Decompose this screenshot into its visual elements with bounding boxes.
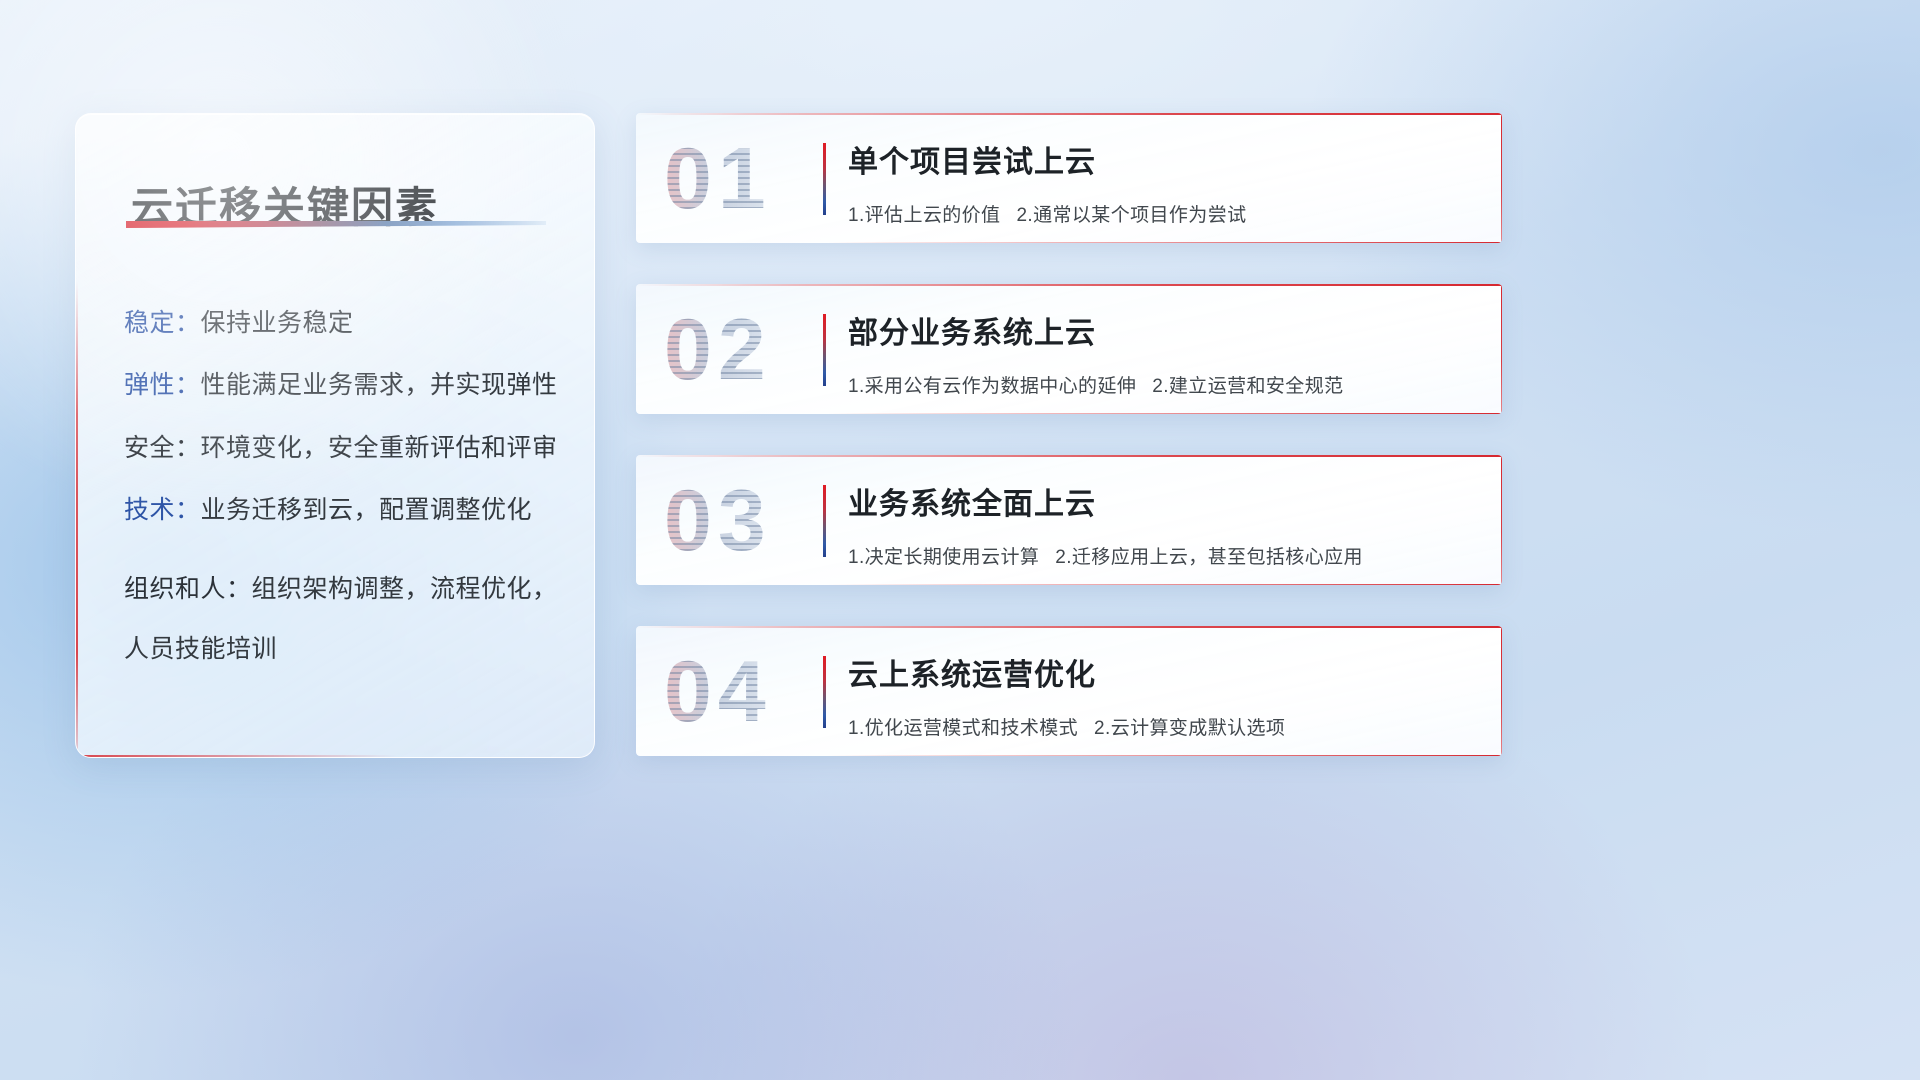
card-right-accent-line: [1501, 455, 1503, 585]
stage-number-watermark: 02: [664, 300, 772, 400]
stage-title: 单个项目尝试上云: [848, 137, 1482, 181]
stage-accent-bar: [823, 656, 826, 728]
stage-accent-bar: [823, 485, 826, 557]
stage-detail-item-2: 2.通常以某个项目作为尝试: [1016, 205, 1246, 226]
card-top-accent-line: [636, 455, 1502, 457]
panel-bottom-accent-line: [76, 755, 397, 757]
stage-content: 单个项目尝试上云 1.评估上云的价值2.通常以某个项目作为尝试: [848, 137, 1482, 243]
stage-card-01[interactable]: 01 单个项目尝试上云 1.评估上云的价值2.通常以某个项目作为尝试: [636, 113, 1502, 243]
stage-card-03[interactable]: 03 业务系统全面上云 1.决定长期使用云计算2.迁移应用上云，甚至包括核心应用: [636, 455, 1502, 585]
stage-detail: 1.评估上云的价值2.通常以某个项目作为尝试: [848, 200, 1482, 227]
card-right-accent-line: [1501, 284, 1503, 414]
card-right-accent-line: [1501, 626, 1503, 756]
stage-title: 业务系统全面上云: [848, 479, 1482, 523]
list-item: 组织和人：组织架构调整，流程优化，人员技能培训: [104, 559, 576, 679]
stage-title: 部分业务系统上云: [848, 308, 1482, 352]
stage-detail-item-2: 2.云计算变成默认选项: [1094, 718, 1285, 739]
factor-label: 弹性：: [124, 371, 201, 399]
stage-detail: 1.采用公有云作为数据中心的延伸2.建立运营和安全规范: [848, 371, 1482, 398]
stage-detail-item-1: 1.评估上云的价值: [848, 205, 1000, 226]
stage-detail-item-2: 2.建立运营和安全规范: [1152, 376, 1343, 397]
list-item: 安全：环境变化，安全重新评估和评审: [104, 435, 576, 461]
factor-value: 环境变化，安全重新评估和评审: [201, 434, 558, 462]
stage-detail-item-1: 1.采用公有云作为数据中心的延伸: [848, 376, 1136, 397]
stage-detail-item-2: 2.迁移应用上云，甚至包括核心应用: [1055, 547, 1363, 568]
stage-number-watermark: 03: [664, 471, 772, 571]
stage-card-04[interactable]: 04 云上系统运营优化 1.优化运营模式和技术模式2.云计算变成默认选项: [636, 626, 1502, 756]
stage-accent-bar: [823, 143, 826, 215]
key-factors-panel: 云迁移关键因素 稳定：保持业务稳定 弹性：性能满足业务需求，并实现弹性 安全：环…: [75, 113, 595, 758]
slide-canvas: 云迁移关键因素 稳定：保持业务稳定 弹性：性能满足业务需求，并实现弹性 安全：环…: [0, 0, 1920, 1080]
list-item: 弹性：性能满足业务需求，并实现弹性: [104, 372, 576, 398]
card-top-accent-line: [636, 626, 1502, 628]
migration-stage-list: 01 单个项目尝试上云 1.评估上云的价值2.通常以某个项目作为尝试 02 部分…: [636, 113, 1502, 797]
stage-detail-item-1: 1.决定长期使用云计算: [848, 547, 1039, 568]
stage-number-watermark: 04: [664, 642, 772, 742]
stage-number-watermark: 01: [664, 129, 772, 229]
factor-value: 性能满足业务需求，并实现弹性: [201, 371, 558, 399]
card-top-accent-line: [636, 113, 1502, 115]
stage-detail-item-1: 1.优化运营模式和技术模式: [848, 718, 1078, 739]
stage-content: 云上系统运营优化 1.优化运营模式和技术模式2.云计算变成默认选项: [848, 650, 1482, 756]
card-top-accent-line: [636, 284, 1502, 286]
factor-value: 保持业务稳定: [201, 309, 354, 337]
stage-title: 云上系统运营优化: [848, 650, 1482, 694]
factor-label: 安全：: [124, 434, 201, 462]
card-right-accent-line: [1501, 113, 1503, 243]
stage-detail: 1.优化运营模式和技术模式2.云计算变成默认选项: [848, 713, 1482, 740]
stage-accent-bar: [823, 314, 826, 386]
list-item: 稳定：保持业务稳定: [104, 310, 576, 336]
factor-label: 组织和人：: [124, 575, 252, 603]
factor-label: 稳定：: [124, 309, 201, 337]
factor-value: 业务迁移到云，配置调整优化: [201, 496, 533, 524]
key-factor-list: 稳定：保持业务稳定 弹性：性能满足业务需求，并实现弹性 安全：环境变化，安全重新…: [104, 310, 576, 715]
stage-content: 部分业务系统上云 1.采用公有云作为数据中心的延伸2.建立运营和安全规范: [848, 308, 1482, 414]
stage-card-02[interactable]: 02 部分业务系统上云 1.采用公有云作为数据中心的延伸2.建立运营和安全规范: [636, 284, 1502, 414]
stage-content: 业务系统全面上云 1.决定长期使用云计算2.迁移应用上云，甚至包括核心应用: [848, 479, 1482, 585]
panel-left-accent-line: [76, 281, 78, 757]
list-item: 技术：业务迁移到云，配置调整优化: [104, 497, 576, 523]
stage-detail: 1.决定长期使用云计算2.迁移应用上云，甚至包括核心应用: [848, 542, 1482, 569]
factor-label: 技术：: [124, 496, 201, 524]
